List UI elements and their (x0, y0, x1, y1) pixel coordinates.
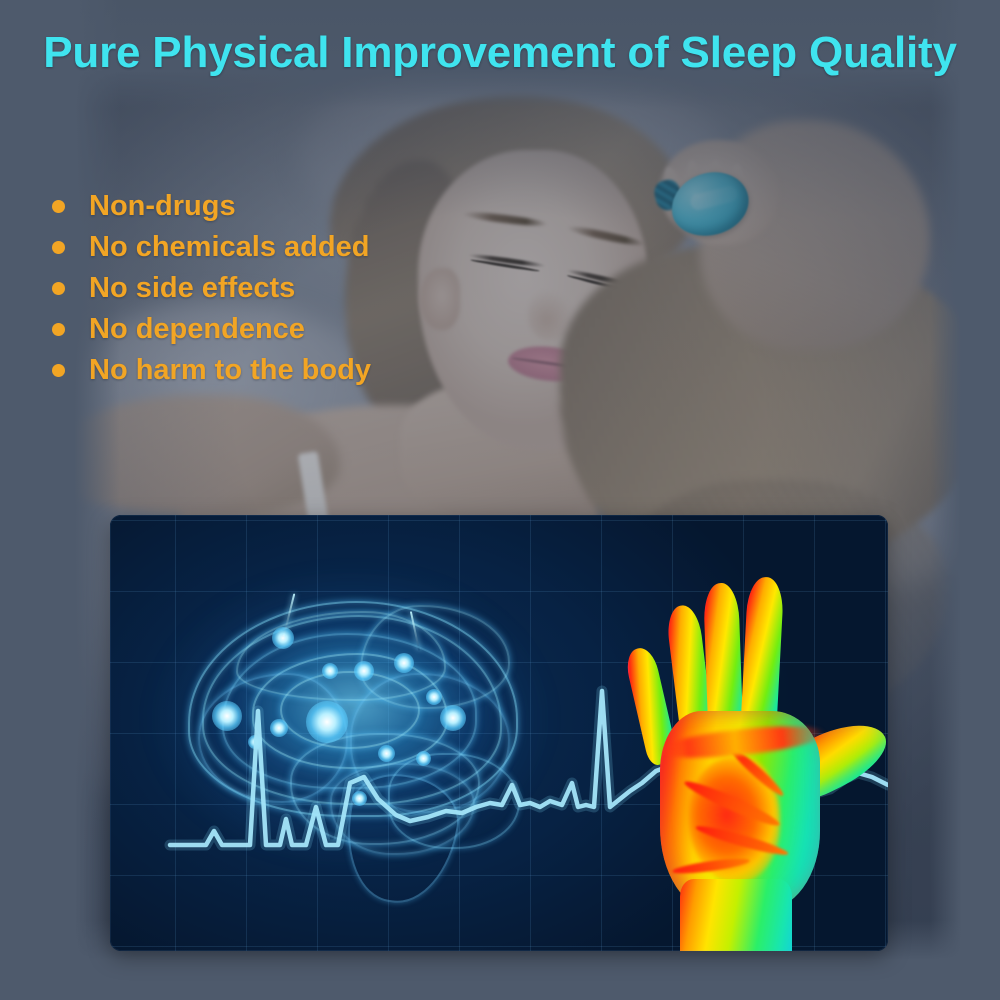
neuron-node (306, 701, 348, 743)
neuron-node (322, 663, 338, 679)
benefit-label: No chemicals added (89, 233, 369, 262)
benefit-label: No dependence (89, 315, 305, 344)
neuron-node (440, 705, 466, 731)
bullet-dot-icon (52, 200, 65, 213)
neuron-node (426, 689, 442, 705)
bullet-dot-icon (52, 241, 65, 254)
neuron-node (270, 719, 288, 737)
list-item: No dependence (52, 309, 482, 350)
benefit-label: No harm to the body (89, 356, 371, 385)
list-item: No side effects (52, 268, 482, 309)
neuron-node (248, 735, 262, 749)
benefits-list: Non-drugs No chemicals added No side eff… (52, 186, 482, 391)
neuron-node (378, 745, 395, 762)
photo-edge-fade-left (0, 0, 120, 1000)
page-title: Pure Physical Improvement of Sleep Quali… (0, 28, 1000, 78)
neuron-node (416, 751, 431, 766)
bullet-dot-icon (52, 364, 65, 377)
thermal-imaging-hand (602, 561, 888, 951)
list-item: No harm to the body (52, 350, 482, 391)
neuron-node (354, 661, 374, 681)
science-illustration-panel (110, 515, 888, 951)
photo-edge-fade-right (930, 0, 1000, 1000)
poster-root: Pure Physical Improvement of Sleep Quali… (0, 0, 1000, 1000)
neuron-node (352, 791, 367, 806)
neuron-node (394, 653, 414, 673)
benefit-label: No side effects (89, 274, 295, 303)
thermal-wrist (680, 879, 792, 951)
glowing-brain-illustration (140, 553, 560, 883)
bullet-dot-icon (52, 323, 65, 336)
benefit-label: Non-drugs (89, 192, 236, 221)
list-item: Non-drugs (52, 186, 482, 227)
list-item: No chemicals added (52, 227, 482, 268)
bullet-dot-icon (52, 282, 65, 295)
neuron-node (212, 701, 242, 731)
